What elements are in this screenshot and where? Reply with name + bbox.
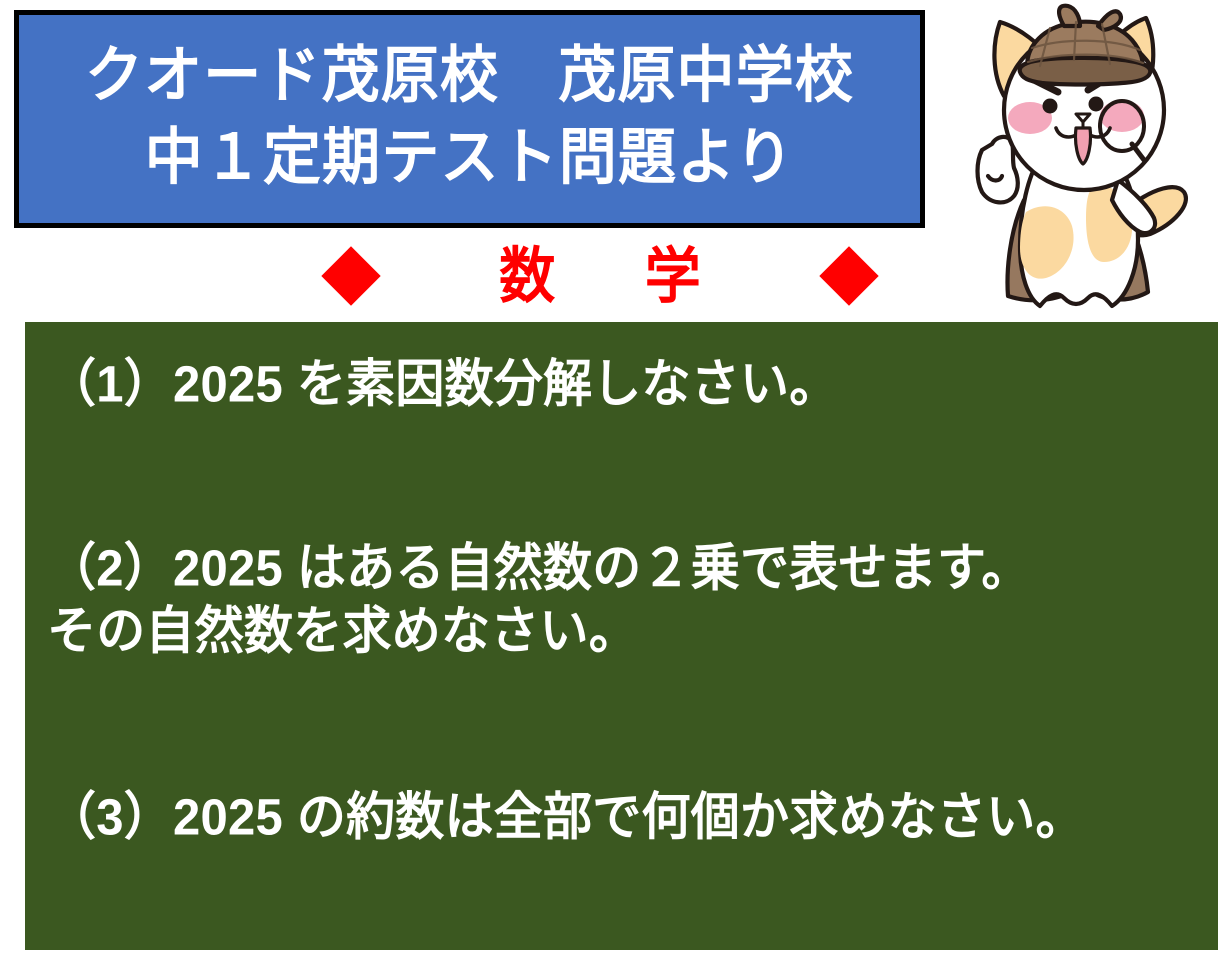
diamond-left-icon [321,246,380,305]
ear-right [1096,18,1153,96]
hat-crown [1027,22,1142,72]
arm-right [1112,180,1155,233]
spacer-1 [47,416,1196,536]
subject-row: 数 学 [330,236,870,316]
body-patch-left [1020,206,1074,278]
paw-crease [988,176,1002,181]
magnifying-glass-handle [1132,144,1144,160]
paw-pointing [978,137,1018,202]
hat-brim [1020,58,1151,85]
collar [1038,168,1130,188]
question-2: （2）2025 はある自然数の２乗で表せます。 その自然数を求めなさい。 [47,536,1196,663]
detective-cat-mascot [962,0,1231,318]
eyebrow-left [1030,78,1058,92]
subject-label: 数 学 [482,246,717,306]
cape-left [1008,198,1074,300]
question-2-line-2: その自然数を求めなさい。 [47,599,1196,666]
question-1: （1）2025 を素因数分解しなさい。 [47,352,1196,416]
slide-canvas: クオード茂原校 茂原中学校 中１定期テスト問題より 数 学 （1）2025 を素… [0,0,1231,967]
tail [1128,187,1186,235]
eye-right [1089,97,1104,112]
magnifying-glass-lens [1100,101,1144,151]
ear-left [994,22,1054,96]
detective-cat-illustration [962,0,1231,318]
question-3-line-1: （3）2025 の約数は全部で何個か求めなさい。 [47,785,1196,852]
cheek-right [1100,100,1144,132]
hat-flap-left [1059,6,1080,26]
tongue [1075,128,1090,164]
question-2-line-1: （2）2025 はある自然数の２乗で表せます。 [47,536,1196,603]
head [1004,30,1164,190]
header-banner: クオード茂原校 茂原中学校 中１定期テスト問題より [14,10,925,228]
header-title-line2: 中１定期テスト問題より [145,115,795,202]
problem-board: （1）2025 を素因数分解しなさい。 （2）2025 はある自然数の２乗で表せ… [25,322,1218,950]
nose [1076,114,1090,122]
eyebrow-right [1088,74,1114,90]
cape-right [1092,196,1148,300]
body [1020,158,1138,306]
spacer-2 [47,663,1196,785]
question-3: （3）2025 の約数は全部で何個か求めなさい。 [47,785,1196,849]
eye-left [1043,99,1058,114]
diamond-right-icon [819,246,878,305]
mouth-right [1083,128,1110,137]
hat-flap-right [1098,11,1121,30]
cheek-left [1008,102,1052,134]
body-patch-right [1086,185,1132,262]
header-title-line1: クオード茂原校 茂原中学校 [85,32,854,119]
question-1-line-1: （1）2025 を素因数分解しなさい。 [47,352,1196,419]
hat-plaid [1028,22,1143,66]
collar-band [1036,164,1132,186]
mouth-left [1056,128,1083,137]
